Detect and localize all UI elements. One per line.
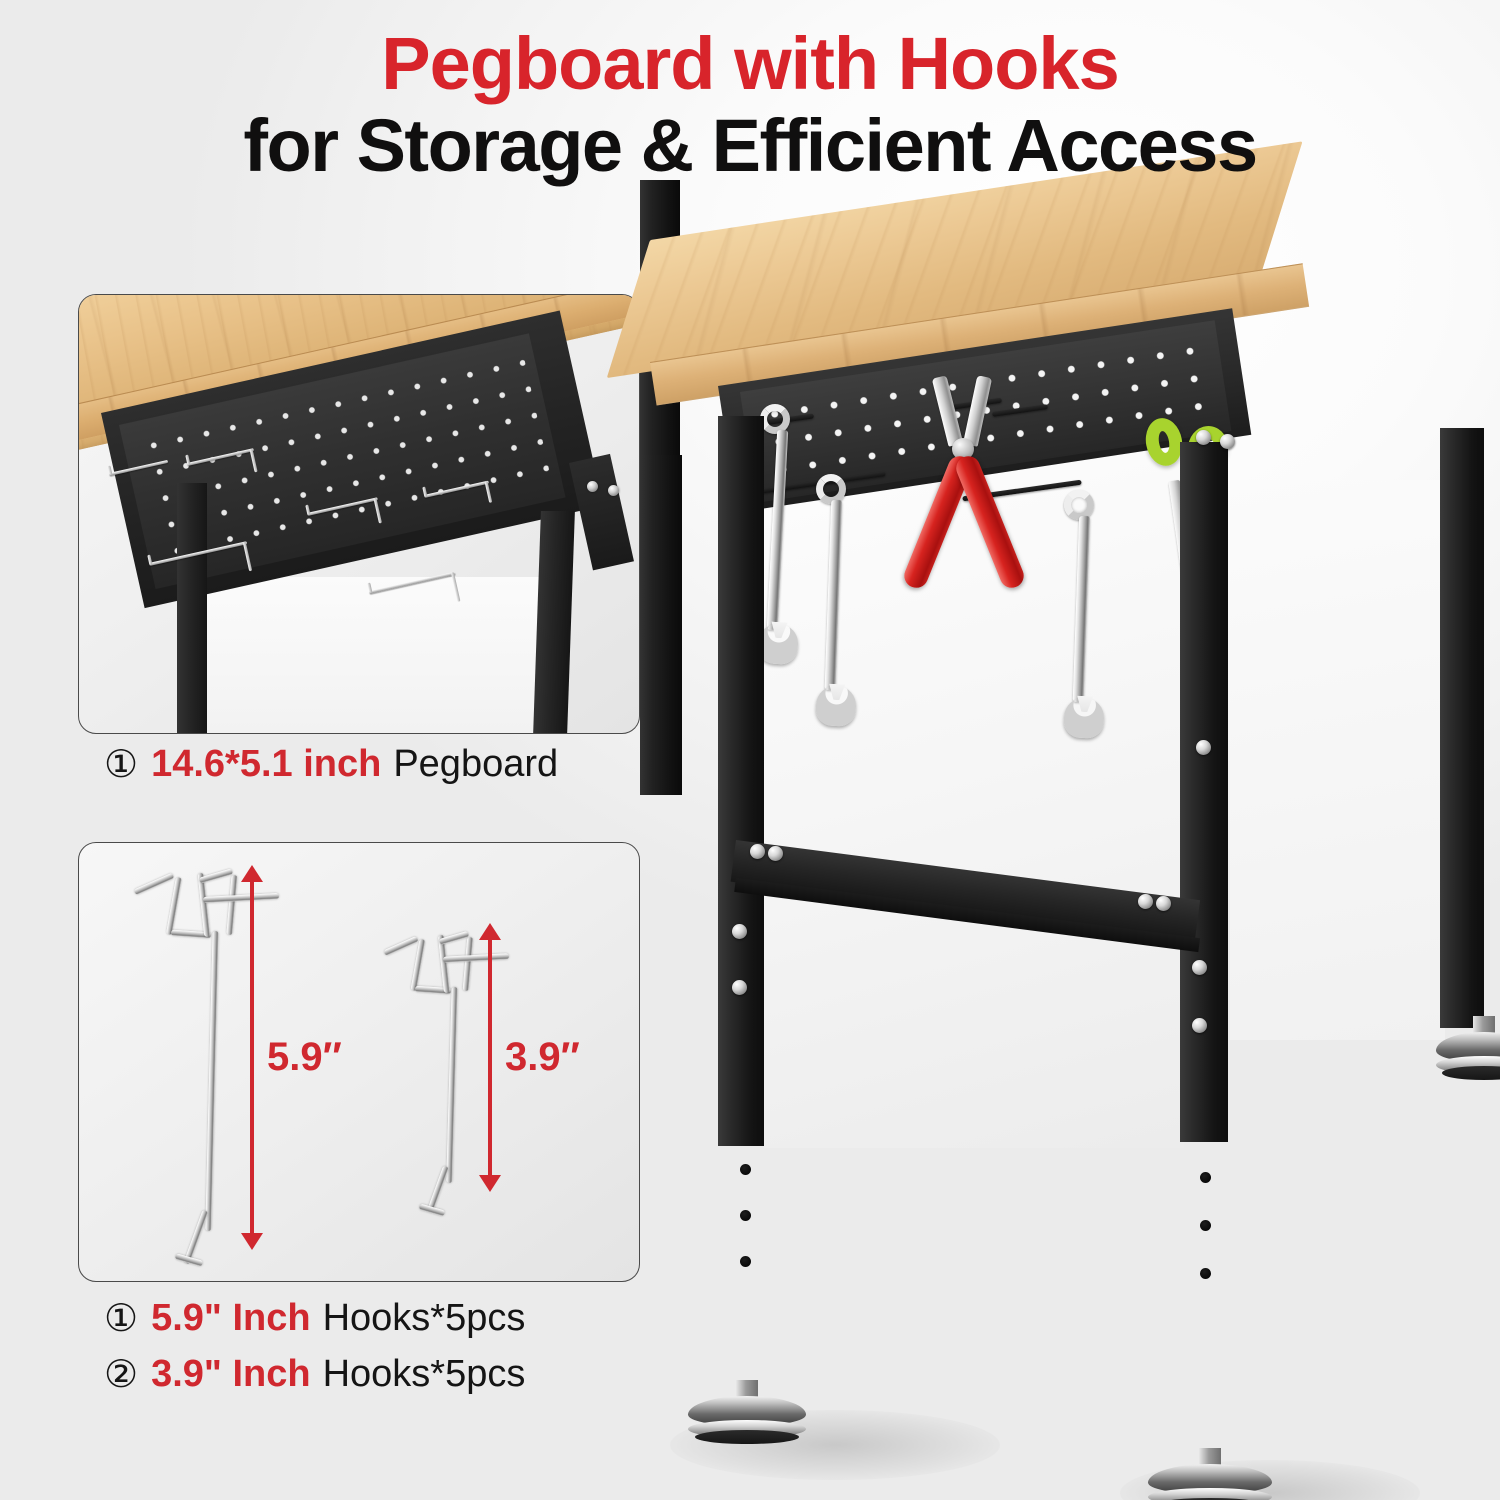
inset-leg-right (533, 511, 575, 734)
background-wall-right (1230, 480, 1445, 1040)
frame-bolt (1196, 430, 1211, 445)
dim-arrow-down (479, 1175, 501, 1192)
caption-text: Hooks*5pcs (323, 1353, 526, 1396)
product-infographic: Pegboard with Hooks for Storage & Effici… (0, 0, 1500, 1500)
height-adjust-bolt (1192, 1018, 1207, 1033)
inset-corner-bracket (569, 454, 634, 571)
caption-text: Pegboard (393, 743, 558, 786)
inset-bolt (608, 485, 619, 496)
caption-marker: ② (104, 1352, 138, 1397)
leg-adjust-hole (740, 1210, 751, 1221)
caption-highlight: 14.6*5.1 inch (151, 743, 381, 786)
leg-adjust-hole (1200, 1268, 1211, 1279)
caption-hook-long: ① 5.9" Inch Hooks*5pcs (104, 1296, 525, 1341)
caption-pegboard: ① 14.6*5.1 inch Pegboard (104, 742, 558, 787)
brace-bolt (1156, 896, 1171, 911)
inset-background-wall (207, 577, 539, 734)
headline-block: Pegboard with Hooks for Storage & Effici… (0, 26, 1500, 186)
leveling-foot-front-right (1148, 1448, 1272, 1500)
dim-line-long-hook (250, 879, 254, 1235)
height-adjust-bolt (1192, 960, 1207, 975)
workbench-photo (640, 180, 1500, 1500)
leg-far-right (1440, 428, 1484, 1028)
hooks-dimension-scene: 5.9″ 3.9″ (79, 843, 639, 1281)
dim-label-long-hook: 5.9″ (267, 1035, 342, 1080)
background-wall-left (764, 448, 1184, 1148)
leg-adjust-hole (1200, 1220, 1211, 1231)
inset-bolt (587, 481, 598, 492)
brace-bolt (1138, 894, 1153, 909)
frame-bolt (1196, 740, 1211, 755)
leg-adjust-hole (740, 1164, 751, 1175)
height-adjust-bolt (732, 980, 747, 995)
height-adjust-bolt (732, 924, 747, 939)
caption-text: Hooks*5pcs (323, 1297, 526, 1340)
frame-bolt (1220, 434, 1235, 449)
leg-front-right (1180, 442, 1228, 1142)
caption-hook-short: ② 3.9" Inch Hooks*5pcs (104, 1352, 525, 1397)
dim-arrow-down (241, 1233, 263, 1250)
dim-line-short-hook (488, 937, 492, 1177)
headline-line-2: for Storage & Efficient Access (0, 107, 1500, 185)
leg-adjust-hole (1200, 1172, 1211, 1183)
pegboard-detail-panel (78, 294, 640, 734)
pegboard-detail-scene (79, 295, 639, 733)
caption-marker: ① (104, 1296, 138, 1341)
leg-adjust-hole (740, 1256, 751, 1267)
leg-front-left (718, 416, 764, 1146)
leveling-foot-front-left (688, 1380, 806, 1466)
brace-bolt (750, 844, 765, 859)
leveling-foot-far (1436, 1016, 1500, 1088)
dim-label-short-hook: 3.9″ (505, 1035, 580, 1080)
brace-bolt (768, 846, 783, 861)
caption-highlight: 3.9" Inch (151, 1353, 311, 1396)
hooks-dimension-panel: 5.9″ 3.9″ (78, 842, 640, 1282)
headline-line-1: Pegboard with Hooks (0, 26, 1500, 101)
inset-leg-left (177, 483, 207, 734)
caption-marker: ① (104, 742, 138, 787)
leg-front-right-lower (640, 455, 682, 795)
caption-highlight: 5.9" Inch (151, 1297, 311, 1340)
